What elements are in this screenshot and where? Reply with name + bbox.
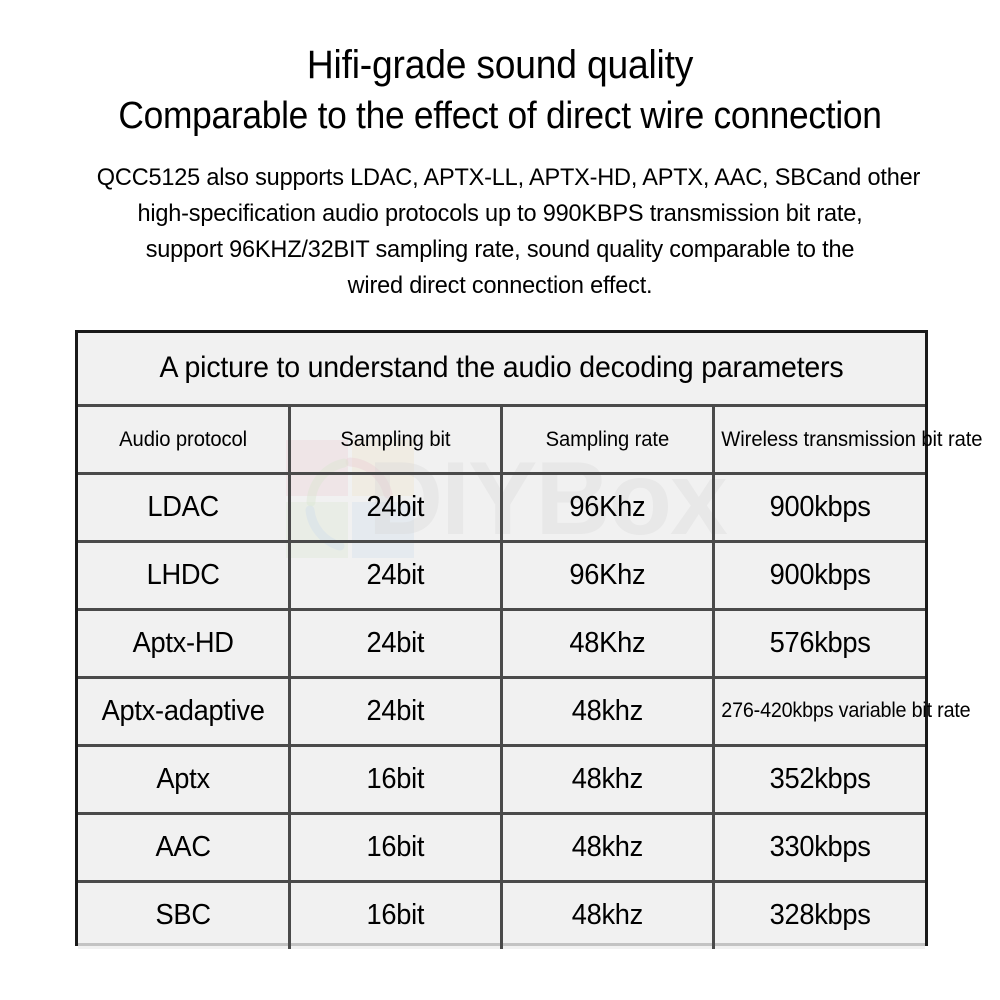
page-title: Hifi-grade sound quality <box>35 40 965 90</box>
cell-sampling-bit: 24bit <box>290 541 502 609</box>
cell-audio-protocol: Aptx-HD <box>78 609 290 677</box>
column-header-audio-protocol: Audio protocol <box>78 405 290 473</box>
headings-block: Hifi-grade sound quality Comparable to t… <box>0 40 1000 141</box>
cell-audio-protocol: Aptx <box>78 745 290 813</box>
cell-sampling-bit: 24bit <box>290 473 502 541</box>
cell-sampling-rate: 96Khz <box>502 541 714 609</box>
cell-sampling-bit: 16bit <box>290 881 502 949</box>
intro-line-3: support 96KHZ/32BIT sampling rate, sound… <box>97 232 903 268</box>
cell-sampling-rate: 48khz <box>502 881 714 949</box>
intro-line-2: high-specification audio protocols up to… <box>97 196 903 232</box>
cell-wireless-bit-rate: 352kbps <box>713 745 925 813</box>
cell-sampling-rate: 48khz <box>502 677 714 745</box>
column-header-sampling-rate: Sampling rate <box>502 405 714 473</box>
cell-wireless-bit-rate: 328kbps <box>713 881 925 949</box>
intro-line-1: QCC5125 also supports LDAC, APTX-LL, APT… <box>97 160 903 196</box>
product-info-page: Hifi-grade sound quality Comparable to t… <box>0 0 1000 1000</box>
page-subtitle: Comparable to the effect of direct wire … <box>35 91 965 141</box>
column-header-sampling-bit: Sampling bit <box>290 405 502 473</box>
cell-audio-protocol: AAC <box>78 813 290 881</box>
cell-audio-protocol: LDAC <box>78 473 290 541</box>
table-caption-row: A picture to understand the audio decodi… <box>78 333 925 405</box>
cell-sampling-rate: 48Khz <box>502 609 714 677</box>
cell-sampling-bit: 16bit <box>290 745 502 813</box>
table-body: A picture to understand the audio decodi… <box>78 333 925 949</box>
table-row: AAC16bit48khz330kbps <box>78 813 925 881</box>
table-row: Aptx-HD24bit48Khz576kbps <box>78 609 925 677</box>
cell-wireless-bit-rate: 900kbps <box>713 473 925 541</box>
table-header-row: Audio protocol Sampling bit Sampling rat… <box>78 405 925 473</box>
cell-sampling-bit: 24bit <box>290 609 502 677</box>
intro-line-4: wired direct connection effect. <box>97 268 903 304</box>
cell-wireless-bit-rate: 576kbps <box>713 609 925 677</box>
cell-wireless-bit-rate: 330kbps <box>713 813 925 881</box>
table-caption: A picture to understand the audio decodi… <box>78 333 925 405</box>
cell-sampling-rate: 48khz <box>502 813 714 881</box>
cell-audio-protocol: Aptx-adaptive <box>78 677 290 745</box>
audio-parameters-table: A picture to understand the audio decodi… <box>75 330 928 946</box>
table-row: LHDC24bit96Khz900kbps <box>78 541 925 609</box>
cell-sampling-rate: 96Khz <box>502 473 714 541</box>
table-row: Aptx-adaptive24bit48khz276-420kbps varia… <box>78 677 925 745</box>
cell-sampling-bit: 24bit <box>290 677 502 745</box>
table-row: LDAC24bit96Khz900kbps <box>78 473 925 541</box>
table-row: Aptx16bit48khz352kbps <box>78 745 925 813</box>
table-row: SBC16bit48khz328kbps <box>78 881 925 949</box>
cell-sampling-bit: 16bit <box>290 813 502 881</box>
cell-audio-protocol: SBC <box>78 881 290 949</box>
column-header-wireless-bit-rate: Wireless transmission bit rate <box>713 405 925 473</box>
cell-wireless-bit-rate: 900kbps <box>713 541 925 609</box>
intro-paragraph: QCC5125 also supports LDAC, APTX-LL, APT… <box>97 160 903 304</box>
cell-wireless-bit-rate: 276-420kbps variable bit rate <box>713 677 925 745</box>
cell-audio-protocol: LHDC <box>78 541 290 609</box>
cell-sampling-rate: 48khz <box>502 745 714 813</box>
